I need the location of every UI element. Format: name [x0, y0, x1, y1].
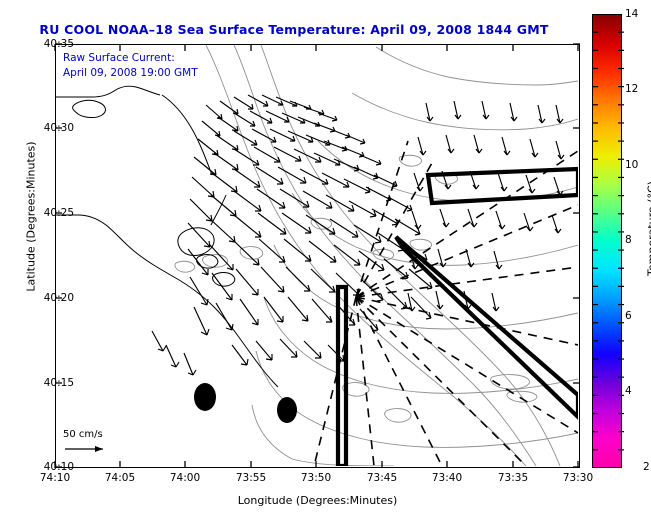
- colorbar[interactable]: [592, 14, 622, 468]
- colorbar-tick-label: 4: [625, 385, 632, 397]
- xtick-label: 73:40: [417, 472, 477, 484]
- annotation-line-1: Raw Surface Current:: [63, 51, 198, 66]
- coastline: [56, 86, 278, 387]
- ytick-label: 40:35: [28, 38, 74, 50]
- transect-boxes: [338, 169, 578, 466]
- colorbar-tick-label: 6: [625, 310, 632, 322]
- annotation-line-2: April 09, 2008 19:00 GMT: [63, 66, 198, 81]
- y-axis-label: Latitude (Degrees:Minutes): [25, 137, 38, 297]
- xtick-label: 73:50: [286, 472, 346, 484]
- ytick-label: 40:30: [28, 122, 74, 134]
- scale-legend: 50 cm/s: [63, 429, 113, 459]
- xtick-label: 73:30: [548, 472, 608, 484]
- x-axis-label: Longitude (Degrees:Minutes): [55, 494, 580, 507]
- map-plot-area[interactable]: Raw Surface Current: April 09, 2008 19:0…: [55, 44, 580, 468]
- scale-legend-label: 50 cm/s: [63, 429, 113, 440]
- colorbar-label: Temperature (°C): [646, 149, 651, 309]
- station-marker: [194, 383, 216, 411]
- page-title: RU COOL NOAA–18 Sea Surface Temperature:…: [0, 22, 588, 37]
- station-marker: [277, 397, 297, 423]
- colorbar-tick-label: 2: [643, 461, 651, 473]
- arrow-right-icon: [63, 443, 113, 455]
- xtick-label: 74:00: [155, 472, 215, 484]
- colorbar-tick-label: 8: [625, 234, 632, 246]
- xtick-label: 74:05: [90, 472, 150, 484]
- colorbar-gradient: [593, 15, 621, 467]
- colorbar-tick-label: 10: [625, 159, 638, 171]
- bathymetry-contours: [175, 45, 578, 466]
- xtick-label: 73:55: [221, 472, 281, 484]
- ytick-label: 40:15: [28, 377, 74, 389]
- surface-current-vectors: [152, 95, 564, 375]
- annotation-block: Raw Surface Current: April 09, 2008 19:0…: [63, 51, 198, 80]
- xtick-label: 73:45: [352, 472, 412, 484]
- xtick-label: 73:35: [483, 472, 543, 484]
- station-markers: [194, 383, 297, 423]
- colorbar-tick-label: 14: [625, 8, 638, 20]
- xtick-label: 74:10: [25, 472, 85, 484]
- colorbar-tick-label: 12: [625, 83, 638, 95]
- map-canvas: [56, 45, 578, 466]
- radial-dashed-lines: [314, 141, 578, 466]
